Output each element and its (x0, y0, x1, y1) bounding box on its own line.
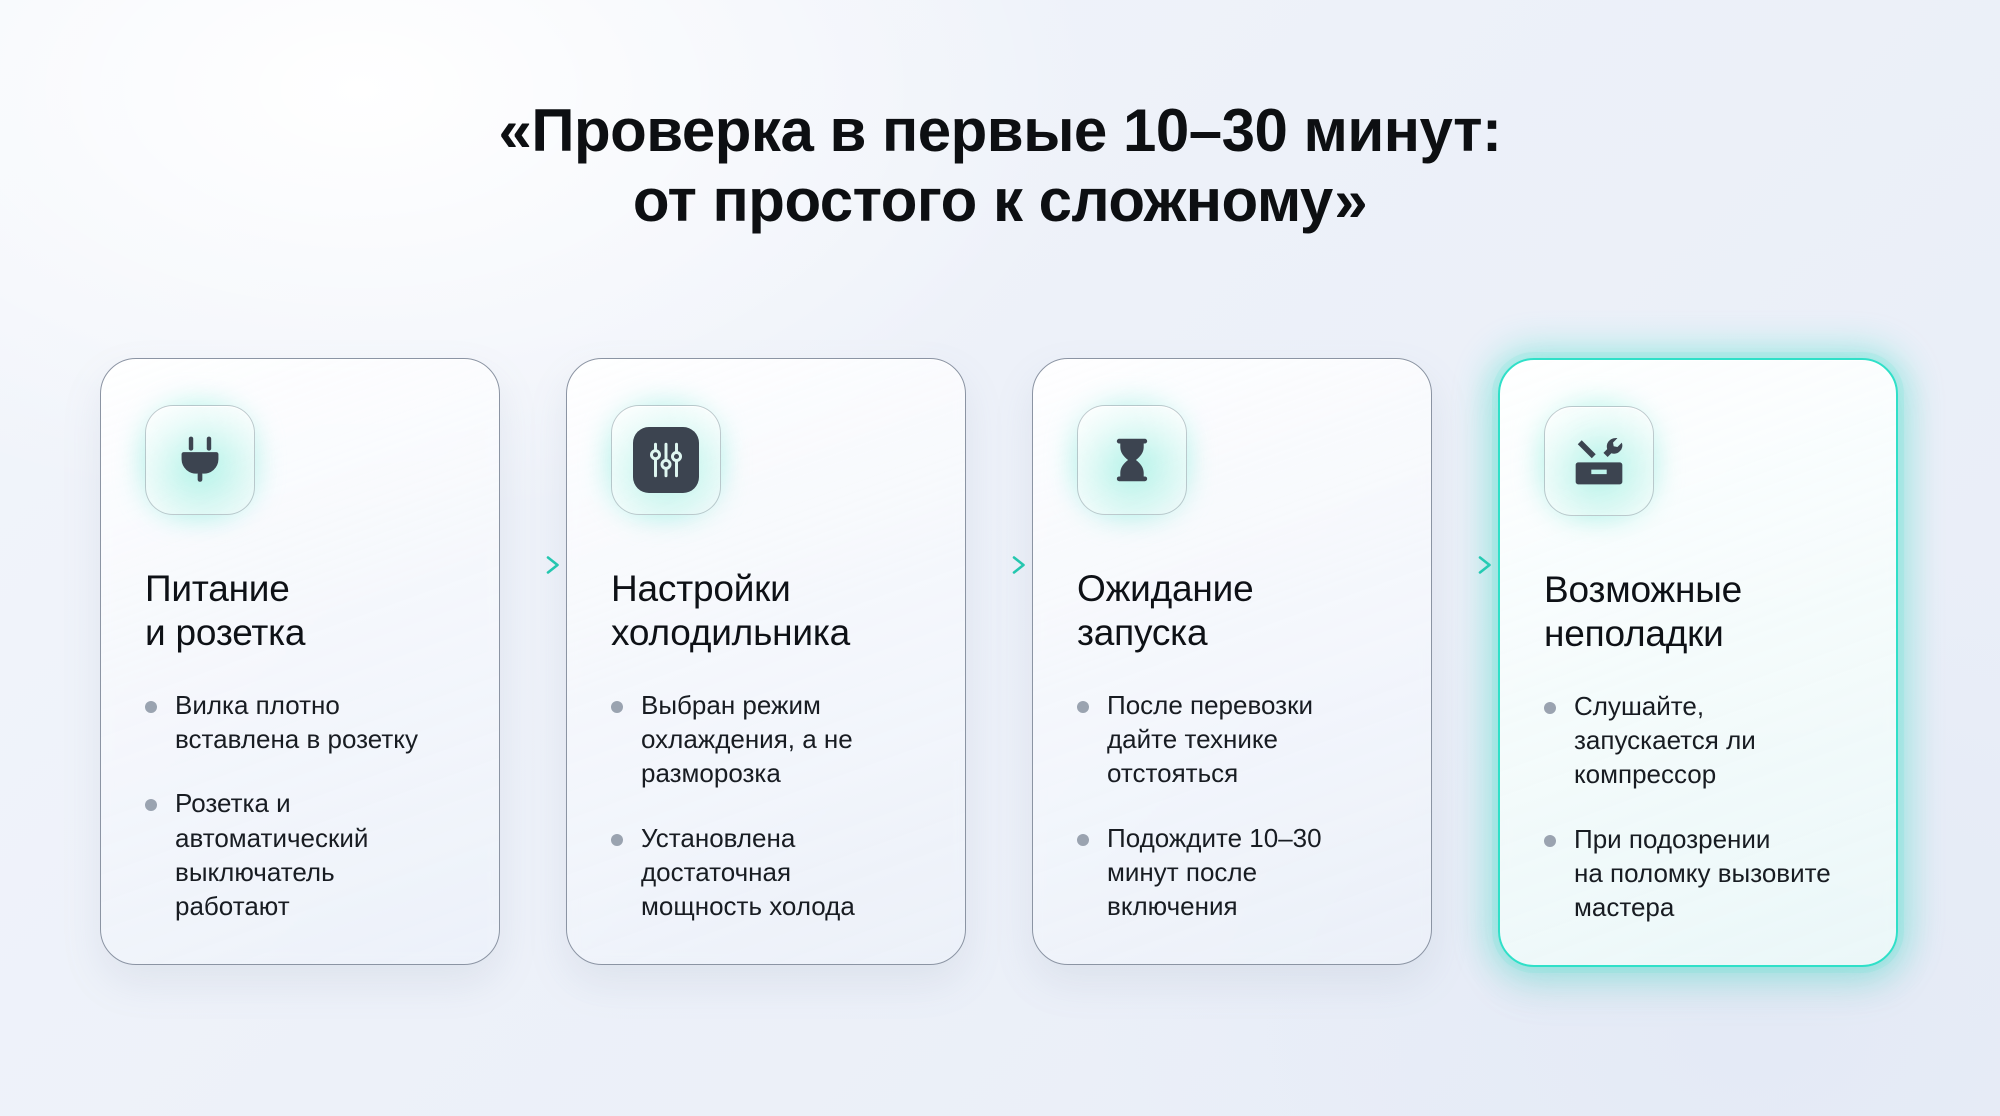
list-item: Подождите 10–30 минут после включения (1077, 821, 1387, 924)
title-line-1: «Проверка в первые 10–30 минут: (0, 96, 2000, 166)
step-card-settings[interactable]: Настройки холодильника Выбран режим охла… (566, 358, 966, 965)
icon-tile (611, 405, 721, 515)
bullet-list: После перевозки дайте технике отстояться… (1077, 688, 1387, 924)
icon-container (1077, 405, 1185, 513)
bullet-dot-icon (1544, 835, 1556, 847)
bullet-list: Слушайте, запускается ли компрессор При … (1544, 689, 1852, 925)
bullet-dot-icon (1544, 702, 1556, 714)
list-item: Розетка и автоматический выключатель раб… (145, 786, 455, 923)
step-card-issues[interactable]: Возможные неполадки Слушайте, запускаетс… (1498, 358, 1898, 967)
step-card-waiting[interactable]: Ожидание запуска После перевозки дайте т… (1032, 358, 1432, 965)
card-title: Ожидание запуска (1077, 567, 1387, 656)
bullet-text: Слушайте, запускается ли компрессор (1574, 689, 1756, 792)
card-title: Настройки холодильника (611, 567, 921, 656)
bullet-dot-icon (611, 701, 623, 713)
bullet-text: Подождите 10–30 минут после включения (1107, 821, 1322, 924)
icon-container (611, 405, 719, 513)
bullet-dot-icon (1077, 834, 1089, 846)
page-title: «Проверка в первые 10–30 минут: от прост… (0, 96, 2000, 235)
bullet-dot-icon (145, 799, 157, 811)
toolbox-wrench-icon (1571, 433, 1627, 489)
list-item: Вилка плотно вставлена в розетку (145, 688, 455, 757)
icon-container (145, 405, 253, 513)
bullet-text: При подозрении на поломку вызовите масте… (1574, 822, 1831, 925)
bullet-text: После перевозки дайте технике отстояться (1107, 688, 1313, 791)
step-card-power[interactable]: Питание и розетка Вилка плотно вставлена… (100, 358, 500, 965)
flow-arrow-2 (966, 358, 1032, 958)
list-item: После перевозки дайте технике отстояться (1077, 688, 1387, 791)
icon-tile (1544, 406, 1654, 516)
bullet-text: Установлена достаточная мощность холода (641, 821, 855, 924)
flow-arrow-1 (500, 358, 566, 958)
bullet-dot-icon (145, 701, 157, 713)
bullet-text: Вилка плотно вставлена в розетку (175, 688, 418, 757)
bullet-text: Розетка и автоматический выключатель раб… (175, 786, 368, 923)
card-title: Питание и розетка (145, 567, 455, 656)
bullet-dot-icon (611, 834, 623, 846)
list-item: Установлена достаточная мощность холода (611, 821, 921, 924)
icon-tile (145, 405, 255, 515)
infographic-canvas: «Проверка в первые 10–30 минут: от прост… (0, 0, 2000, 1116)
power-plug-icon (172, 432, 228, 488)
sliders-settings-icon (633, 427, 699, 493)
bullet-dot-icon (1077, 701, 1089, 713)
title-line-2: от простого к сложному» (0, 166, 2000, 236)
bullet-list: Вилка плотно вставлена в розетку Розетка… (145, 688, 455, 924)
hourglass-icon (1106, 434, 1158, 486)
list-item: Слушайте, запускается ли компрессор (1544, 689, 1852, 792)
icon-container (1544, 406, 1652, 514)
list-item: Выбран режим охлаждения, а не разморозка (611, 688, 921, 791)
icon-tile (1077, 405, 1187, 515)
card-title: Возможные неполадки (1544, 568, 1852, 657)
bullet-list: Выбран режим охлаждения, а не разморозка… (611, 688, 921, 924)
steps-row: Питание и розетка Вилка плотно вставлена… (100, 358, 1900, 967)
bullet-text: Выбран режим охлаждения, а не разморозка (641, 688, 853, 791)
list-item: При подозрении на поломку вызовите масте… (1544, 822, 1852, 925)
flow-arrow-3 (1432, 358, 1498, 958)
